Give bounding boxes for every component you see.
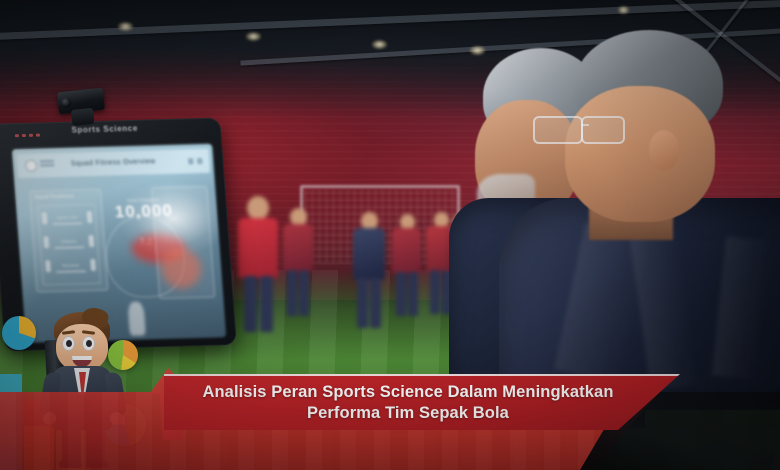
floodlight-icon — [118, 22, 133, 31]
floodlight-icon — [618, 6, 629, 14]
player-figure — [282, 208, 314, 318]
metric-row: Recovery — [45, 259, 96, 280]
metric-label: Recovery — [55, 262, 85, 268]
title-line-2: Performa Tim Sepak Bola — [307, 404, 509, 422]
metric-label: Distance — [54, 238, 84, 244]
mascot-pupil — [66, 340, 72, 347]
mascot-pupil — [86, 340, 92, 347]
panel-title: Squad Readiness — [34, 194, 74, 201]
metric-row: Distance — [43, 235, 94, 256]
floodlight-icon — [372, 40, 387, 49]
title-banner: Analisis Peran Sports Science Dalam Meni… — [164, 374, 680, 430]
dashboard-header: Squad Fitness Overview — [16, 149, 210, 178]
squad-readiness-panel[interactable]: Squad Readiness Sprint Load Distance — [29, 189, 109, 293]
player-figure — [236, 196, 280, 336]
dashboard-header-icons[interactable] — [188, 158, 202, 164]
thumbnail-canvas: Sports Science Squad Fitness Overview Sq… — [0, 0, 780, 470]
head-coach-figure — [545, 30, 780, 378]
panel-body: Sprint Load Distance Recovery — [37, 204, 101, 285]
page-title: Analisis Peran Sports Science Dalam Meni… — [184, 382, 659, 424]
dashboard-title: Squad Fitness Overview — [71, 158, 156, 167]
coach-face — [565, 86, 715, 222]
player-figure — [392, 214, 422, 318]
player-figure — [352, 212, 386, 330]
logo-text-lines — [40, 160, 55, 168]
heat-map-panel[interactable] — [151, 186, 215, 299]
metric-row: Sprint Load — [42, 211, 93, 232]
metric-label: Sprint Load — [52, 214, 82, 220]
app-logo-icon — [25, 160, 38, 172]
glasses-icon — [533, 116, 649, 146]
pie-chart-graphic — [2, 316, 36, 350]
coach-ear — [649, 130, 679, 170]
floodlight-icon — [246, 32, 261, 41]
title-line-1: Analisis Peran Sports Science Dalam Meni… — [202, 383, 613, 401]
